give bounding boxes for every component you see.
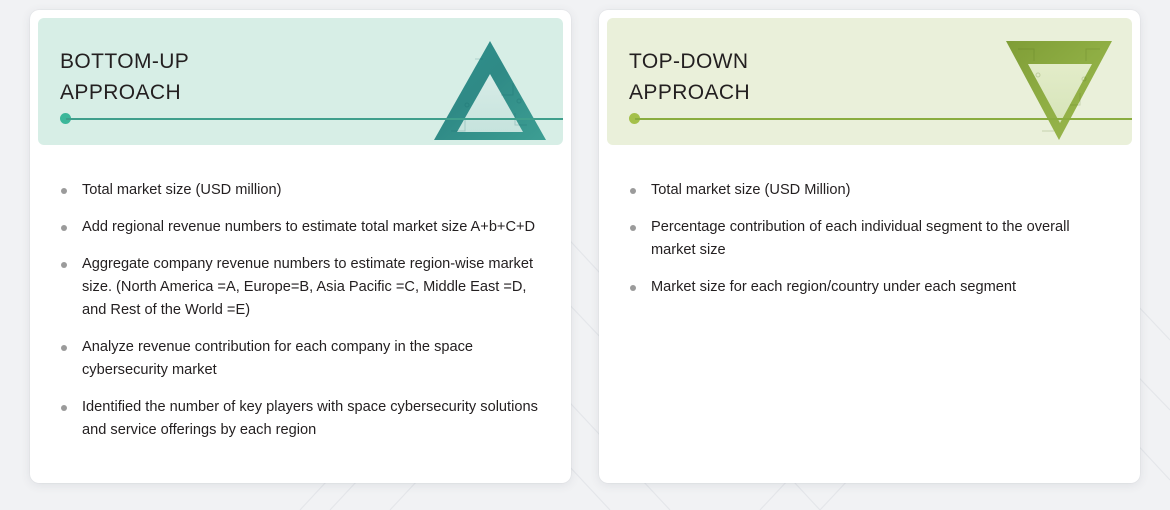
list-item-text: Total market size (USD Million) [651, 182, 851, 198]
header-rule-top-down [629, 113, 1132, 124]
bullet-dot-icon [630, 225, 636, 231]
card-body-top-down: Total market size (USD Million) Percenta… [599, 145, 1140, 483]
card-top-down: TOP-DOWN APPROACH Total market size (USD… [599, 10, 1140, 483]
card-header-bottom-up: BOTTOM-UP APPROACH [38, 18, 563, 145]
bullet-dot-icon [61, 262, 67, 268]
triangle-up-icon [431, 35, 549, 145]
list-item: Total market size (USD Million) [621, 179, 1114, 202]
card-header-top-down: TOP-DOWN APPROACH [607, 18, 1132, 145]
bullet-dot-icon [61, 345, 67, 351]
list-item: Percentage contribution of each individu… [621, 216, 1114, 262]
card-title-bottom-up: BOTTOM-UP APPROACH [60, 46, 189, 108]
card-bottom-up: BOTTOM-UP APPROACH Total market size (US… [30, 10, 571, 483]
triangle-down-icon [1000, 35, 1118, 145]
list-item-text: Aggregate company revenue numbers to est… [82, 256, 533, 318]
list-item-text: Add regional revenue numbers to estimate… [82, 219, 535, 235]
list-item: Aggregate company revenue numbers to est… [52, 253, 545, 322]
list-item-text: Percentage contribution of each individu… [651, 219, 1070, 258]
list-item: Total market size (USD million) [52, 179, 545, 202]
bullet-dot-icon [61, 225, 67, 231]
bullet-dot-icon [630, 285, 636, 291]
rule-line [66, 118, 563, 120]
list-item: Add regional revenue numbers to estimate… [52, 216, 545, 239]
list-item: Identified the number of key players wit… [52, 396, 545, 442]
bullet-dot-icon [61, 405, 67, 411]
list-item-text: Analyze revenue contribution for each co… [82, 339, 473, 378]
rule-line [635, 118, 1132, 120]
list-item-text: Market size for each region/country unde… [651, 279, 1016, 295]
cards-container: BOTTOM-UP APPROACH Total market size (US… [0, 0, 1170, 510]
card-body-bottom-up: Total market size (USD million) Add regi… [30, 145, 571, 483]
list-item-text: Identified the number of key players wit… [82, 399, 538, 438]
list-item: Analyze revenue contribution for each co… [52, 336, 545, 382]
bullet-dot-icon [630, 188, 636, 194]
list-item-text: Total market size (USD million) [82, 182, 282, 198]
list-item: Market size for each region/country unde… [621, 276, 1114, 299]
card-title-top-down: TOP-DOWN APPROACH [629, 46, 750, 108]
header-rule-bottom-up [60, 113, 563, 124]
bullet-list-bottom-up: Total market size (USD million) Add regi… [52, 179, 545, 442]
bullet-dot-icon [61, 188, 67, 194]
bullet-list-top-down: Total market size (USD Million) Percenta… [621, 179, 1114, 299]
